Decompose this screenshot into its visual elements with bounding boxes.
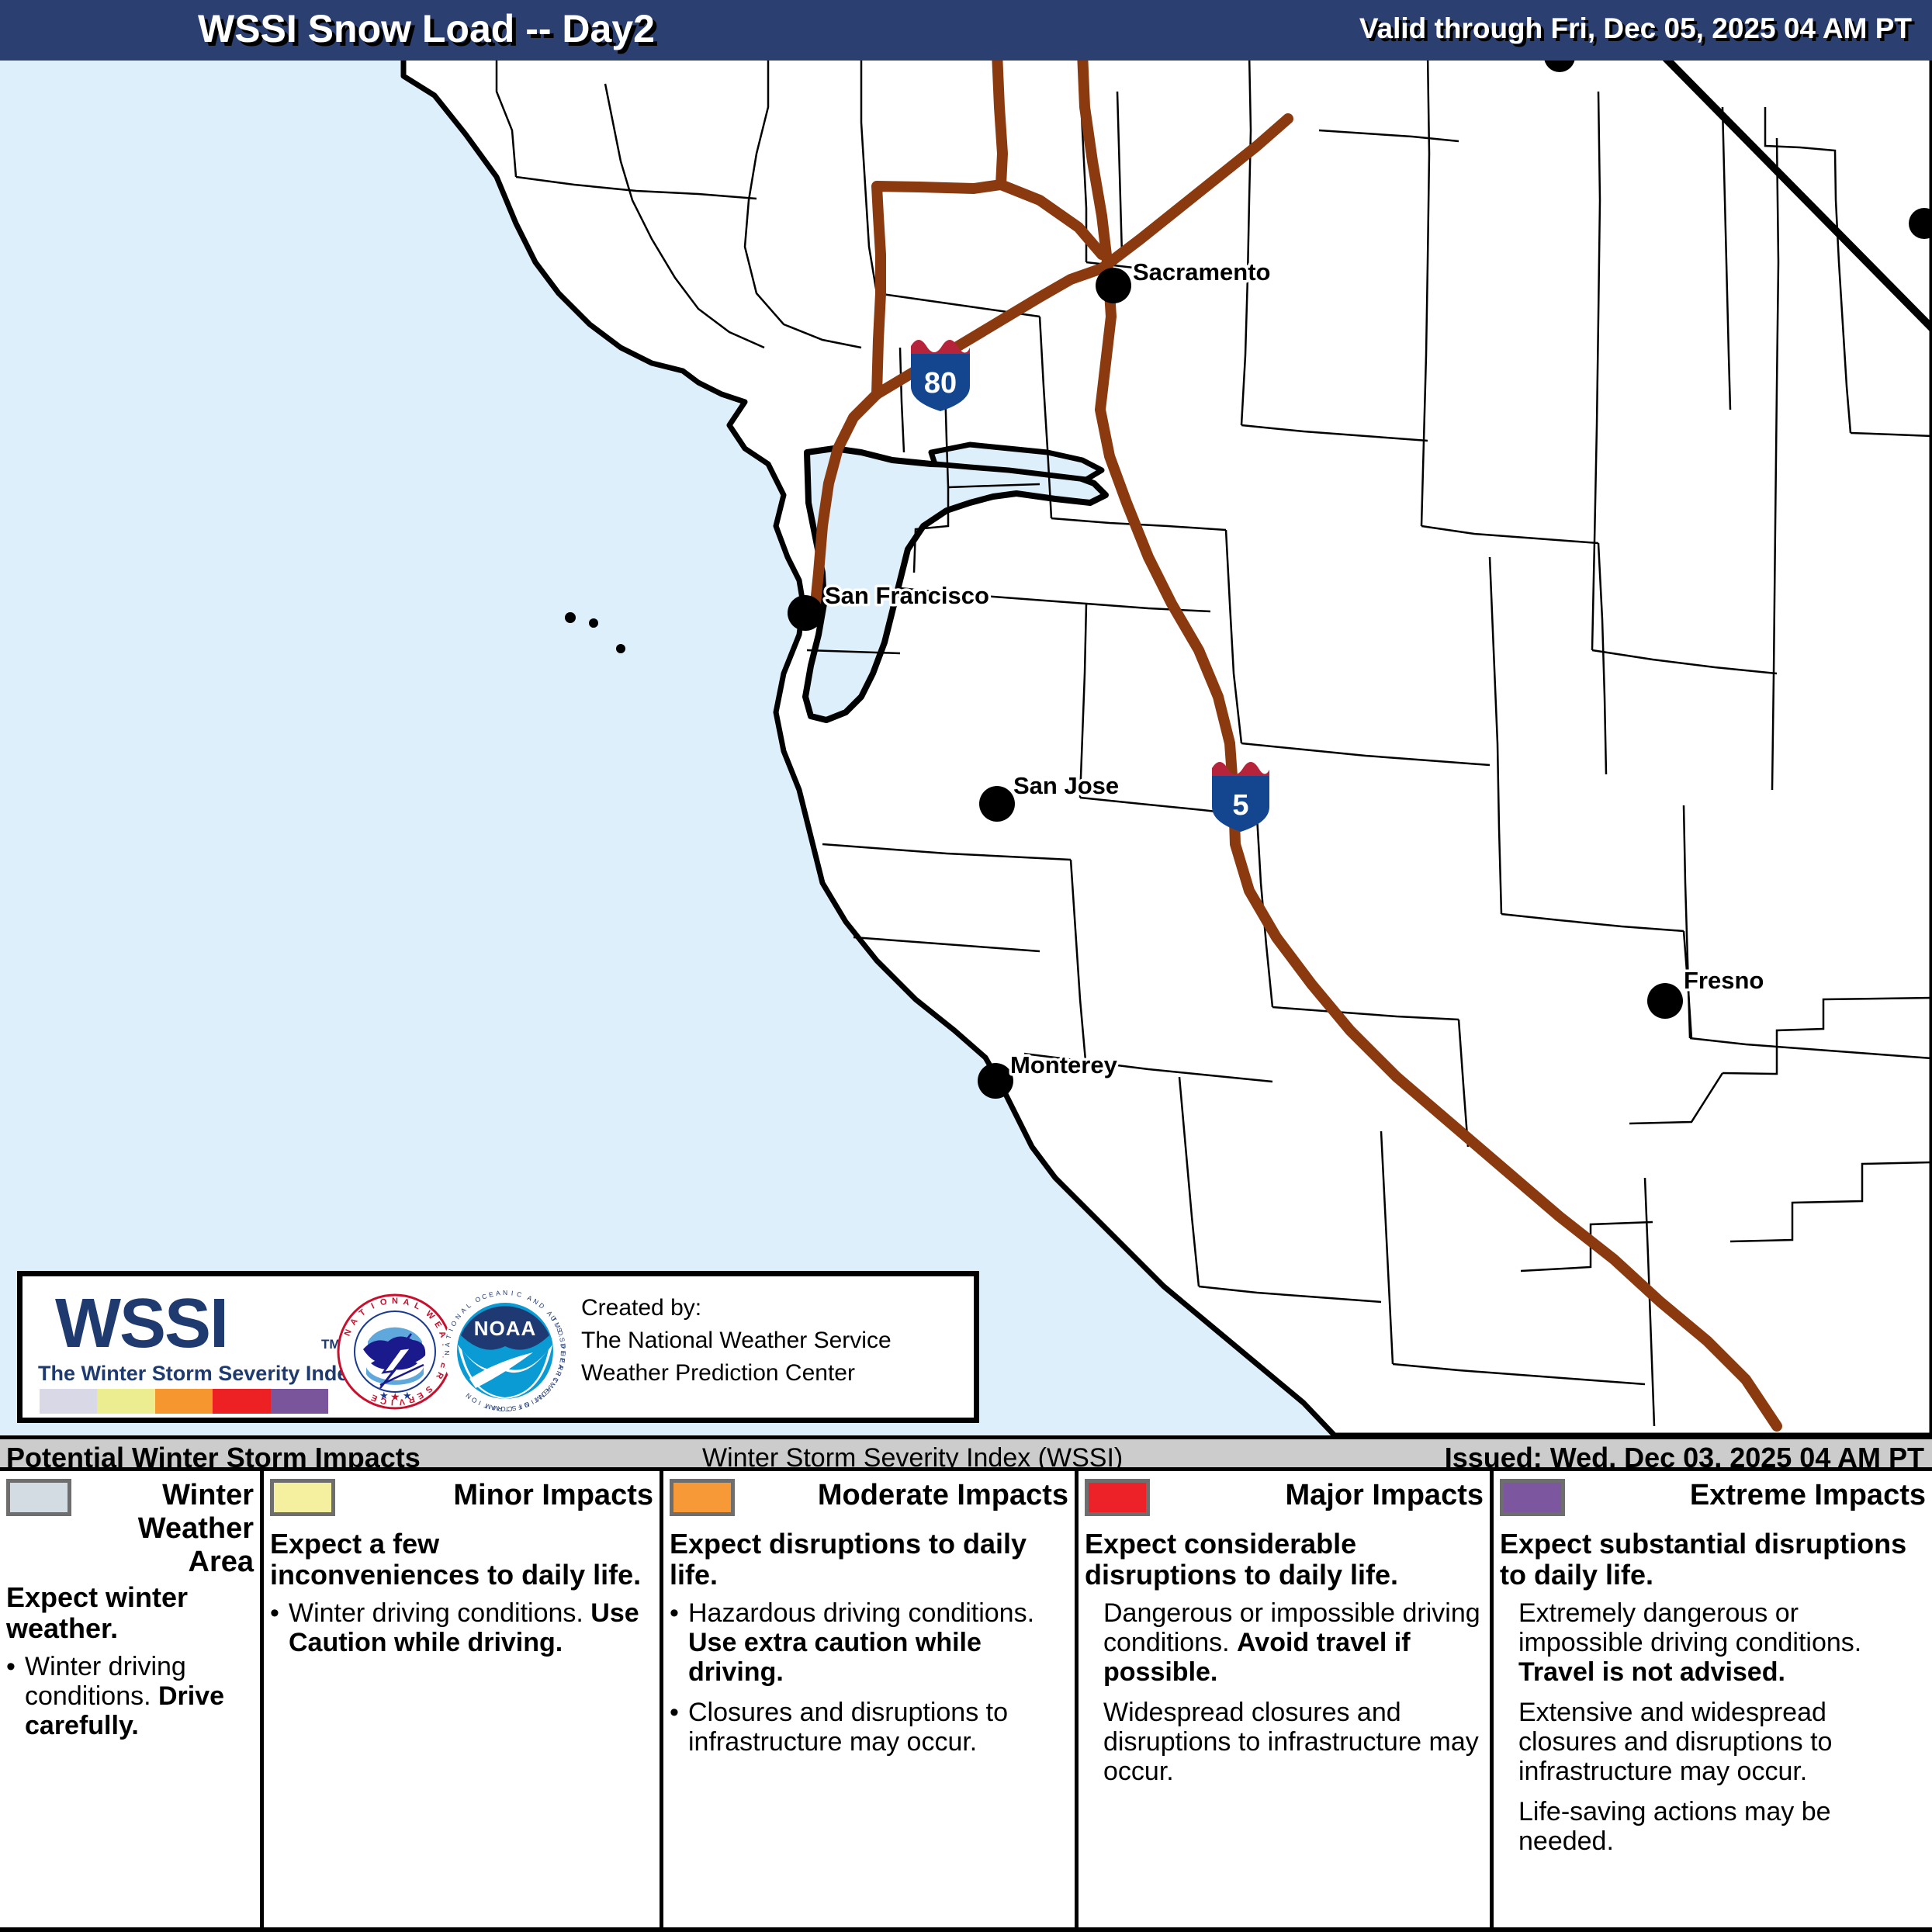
legend-subhead-extreme-impacts: Expect substantial disruptions to daily … xyxy=(1500,1529,1926,1591)
status-bar: Potential Winter Storm Impacts Winter St… xyxy=(0,1435,1932,1471)
legend-title-winter-weather-area: Winter Weather Area xyxy=(79,1479,254,1579)
legend-bullets: • Winter driving conditions. Use Caution… xyxy=(270,1598,653,1657)
svg-text:O: O xyxy=(500,1405,506,1413)
bullet-text: Winter driving conditions. Drive careful… xyxy=(25,1652,254,1740)
issued-timestamp: Issued: Wed, Dec 03, 2025 04 AM PT xyxy=(1445,1442,1924,1474)
impact-legend: Winter Weather Area Expect winter weathe… xyxy=(0,1471,1932,1932)
page-header: WSSI Snow Load -- Day2 Valid through Fri… xyxy=(0,0,1932,61)
bullet-text: Extensive and widespread closures and di… xyxy=(1518,1698,1926,1786)
bullet-text: Winter driving conditions. Use Caution w… xyxy=(289,1598,653,1657)
swatch-extreme-impacts xyxy=(1500,1479,1565,1516)
legend-column-minor-impacts[interactable]: Minor Impacts Expect a few inconvenience… xyxy=(264,1471,663,1927)
wssi-logo-box: WSSI TM The Winter Storm Severity Index xyxy=(17,1271,979,1423)
wssi-color-scale xyxy=(40,1389,328,1414)
swatch-moderate-impacts xyxy=(670,1479,735,1516)
bullet-dot-icon: • xyxy=(6,1652,25,1681)
legend-bullet: • Extensive and widespread closures and … xyxy=(1500,1698,1926,1786)
city-dot-san-francisco xyxy=(788,595,823,631)
city-label-sacramento: Sacramento xyxy=(1133,258,1270,286)
legend-column-winter-weather-area[interactable]: Winter Weather Area Expect winter weathe… xyxy=(0,1471,264,1927)
legend-title-extreme-impacts: Extreme Impacts xyxy=(1573,1479,1926,1512)
map-svg: 80 5 Sacramento San Francisco San Jose F… xyxy=(0,61,1932,1435)
scale-swatch-extreme xyxy=(271,1389,328,1414)
legend-header: Major Impacts xyxy=(1085,1479,1484,1525)
legend-column-extreme-impacts[interactable]: Extreme Impacts Expect substantial disru… xyxy=(1494,1471,1932,1927)
bullet-text: Widespread closures and disruptions to i… xyxy=(1103,1698,1484,1786)
legend-bullets: • Extremely dangerous or impossible driv… xyxy=(1500,1598,1926,1856)
svg-text:E: E xyxy=(559,1351,567,1356)
wssi-snow-load-map-page: WSSI Snow Load -- Day2 Valid through Fri… xyxy=(0,0,1932,1932)
island-dot xyxy=(616,644,625,653)
legend-title-major-impacts: Major Impacts xyxy=(1158,1479,1484,1512)
scale-swatch-winter-weather xyxy=(40,1389,97,1414)
svg-text:80: 80 xyxy=(924,367,957,400)
bullet-text: Closures and disruptions to infrastructu… xyxy=(688,1698,1068,1757)
legend-bullet: • Winter driving conditions. Drive caref… xyxy=(6,1652,254,1740)
swatch-minor-impacts xyxy=(270,1479,335,1516)
city-label-monterey: Monterey xyxy=(1010,1051,1118,1079)
legend-column-major-impacts[interactable]: Major Impacts Expect considerable disrup… xyxy=(1079,1471,1494,1927)
scale-swatch-minor xyxy=(97,1389,154,1414)
svg-text:NOAA: NOAA xyxy=(474,1317,537,1340)
island-dot xyxy=(565,612,576,623)
legend-bullets: • Dangerous or impossible driving condit… xyxy=(1085,1598,1484,1786)
island-dot xyxy=(589,618,598,628)
wssi-tagline: The Winter Storm Severity Index xyxy=(38,1362,360,1386)
bullet-text: Life-saving actions may be needed. xyxy=(1518,1797,1926,1856)
legend-bullet: • Extremely dangerous or impossible driv… xyxy=(1500,1598,1926,1687)
svg-text:N: N xyxy=(443,1350,451,1355)
page-title: WSSI Snow Load -- Day2 xyxy=(198,6,655,51)
legend-bullet: • Hazardous driving conditions. Use extr… xyxy=(670,1598,1068,1687)
legend-header: Extreme Impacts xyxy=(1500,1479,1926,1525)
map-canvas[interactable]: 80 5 Sacramento San Francisco San Jose F… xyxy=(0,61,1932,1435)
svg-text:D: D xyxy=(559,1343,566,1349)
bullet-dot-icon: • xyxy=(670,1598,688,1628)
svg-text:C: C xyxy=(507,1404,513,1412)
legend-header: Winter Weather Area xyxy=(6,1479,254,1579)
legend-subhead-moderate-impacts: Expect disruptions to daily life. xyxy=(670,1529,1068,1591)
national-weather-service-logo: N A T I O N A L W E A T H E R S E xyxy=(337,1293,453,1410)
city-label-fresno: Fresno xyxy=(1684,967,1764,994)
legend-column-moderate-impacts[interactable]: Moderate Impacts Expect disruptions to d… xyxy=(663,1471,1079,1927)
legend-title-moderate-impacts: Moderate Impacts xyxy=(743,1479,1068,1512)
scale-swatch-moderate xyxy=(155,1389,213,1414)
legend-bullets: • Hazardous driving conditions. Use extr… xyxy=(670,1598,1068,1757)
created-by-label: Created by: xyxy=(581,1292,892,1324)
swatch-major-impacts xyxy=(1085,1479,1150,1516)
legend-bullet: • Life-saving actions may be needed. xyxy=(1500,1797,1926,1856)
legend-title-minor-impacts: Minor Impacts xyxy=(343,1479,653,1512)
svg-text:N: N xyxy=(392,1297,398,1306)
svg-text:★: ★ xyxy=(379,1390,389,1401)
city-dot-fresno xyxy=(1647,983,1683,1019)
legend-subhead-major-impacts: Expect considerable disruptions to daily… xyxy=(1085,1529,1484,1591)
legend-subhead-minor-impacts: Expect a few inconveniences to daily lif… xyxy=(270,1529,653,1591)
valid-through-text: Valid through Fri, Dec 05, 2025 04 AM PT xyxy=(1359,12,1912,45)
city-dot-sacramento xyxy=(1096,268,1131,303)
bullet-text: Dangerous or impossible driving conditio… xyxy=(1103,1598,1484,1687)
noaa-logo: NOAA N A T I O N A L O C E A N I C xyxy=(441,1287,570,1415)
wssi-full-name-label: Winter Storm Severity Index (WSSI) xyxy=(702,1443,1123,1473)
legend-subhead-winter-weather-area: Expect winter weather. xyxy=(6,1582,254,1644)
bullet-dot-icon: • xyxy=(270,1598,289,1628)
legend-bullet: • Winter driving conditions. Use Caution… xyxy=(270,1598,653,1657)
wssi-wordmark: WSSI xyxy=(55,1289,227,1359)
potential-impacts-label: Potential Winter Storm Impacts xyxy=(6,1442,421,1474)
bullet-text: Hazardous driving conditions. Use extra … xyxy=(688,1598,1068,1687)
legend-bullet: • Dangerous or impossible driving condit… xyxy=(1085,1598,1484,1687)
svg-text:★: ★ xyxy=(390,1390,400,1403)
legend-bullets: • Winter driving conditions. Drive caref… xyxy=(6,1652,254,1740)
legend-header: Moderate Impacts xyxy=(670,1479,1068,1525)
svg-text:★: ★ xyxy=(403,1390,412,1401)
swatch-winter-weather-area xyxy=(6,1479,71,1516)
bullet-dot-icon: • xyxy=(670,1698,688,1727)
bullet-text: Extremely dangerous or impossible drivin… xyxy=(1518,1598,1926,1687)
created-by-block: Created by: The National Weather Service… xyxy=(581,1292,892,1390)
city-label-san-jose: San Jose xyxy=(1013,772,1119,799)
created-by-org: The National Weather Service xyxy=(581,1324,892,1357)
svg-text:5: 5 xyxy=(1232,789,1248,822)
city-label-san-francisco: San Francisco xyxy=(825,582,989,609)
created-by-center: Weather Prediction Center xyxy=(581,1357,892,1390)
city-dot-san-jose xyxy=(979,786,1015,822)
legend-header: Minor Impacts xyxy=(270,1479,653,1525)
highway-shield-i5: 5 xyxy=(1212,762,1269,832)
svg-text:N: N xyxy=(503,1289,507,1297)
city-dot-monterey xyxy=(978,1063,1013,1099)
legend-bullet: • Closures and disruptions to infrastruc… xyxy=(670,1698,1068,1757)
scale-swatch-major xyxy=(213,1389,270,1414)
legend-bullet: • Widespread closures and disruptions to… xyxy=(1085,1698,1484,1786)
